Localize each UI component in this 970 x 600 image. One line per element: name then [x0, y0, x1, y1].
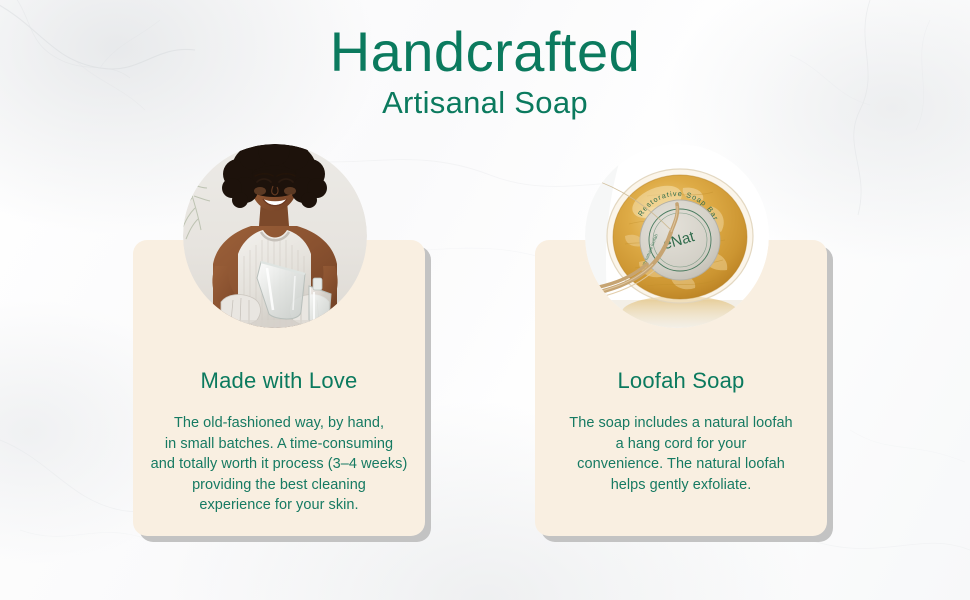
- card-body-line: a hang cord for your: [545, 434, 817, 455]
- card-text-left: Made with Love The old-fashioned way, by…: [133, 368, 425, 516]
- page-title: Handcrafted: [0, 22, 970, 82]
- loofah-soap-bar-photo: Restorative Soap Bar eNat with natural l…: [585, 144, 769, 328]
- card-body-line: convenience. The natural loofah: [545, 454, 817, 475]
- card-body-line: providing the best cleaning: [143, 475, 415, 496]
- card-body-line: The soap includes a natural loofah: [545, 413, 817, 434]
- card-body-line: and totally worth it process (3–4 weeks): [143, 454, 415, 475]
- page-subtitle: Artisanal Soap: [0, 84, 970, 123]
- product-banner: Handcrafted Artisanal Soap Made with Lov…: [0, 0, 970, 600]
- card-title-right: Loofah Soap: [545, 368, 817, 394]
- card-body-right: The soap includes a natural loofah a han…: [545, 413, 817, 495]
- woman-pouring-soap-photo: [183, 144, 367, 328]
- card-body-line: The old-fashioned way, by hand,: [143, 413, 415, 434]
- card-body-left: The old-fashioned way, by hand, in small…: [143, 413, 415, 516]
- heading-block: Handcrafted Artisanal Soap: [0, 22, 970, 123]
- card-body-line: in small batches. A time-consuming: [143, 434, 415, 455]
- card-title-left: Made with Love: [143, 368, 415, 394]
- card-text-right: Loofah Soap The soap includes a natural …: [535, 368, 827, 495]
- card-body-line: helps gently exfoliate.: [545, 475, 817, 496]
- card-body-line: experience for your skin.: [143, 495, 415, 516]
